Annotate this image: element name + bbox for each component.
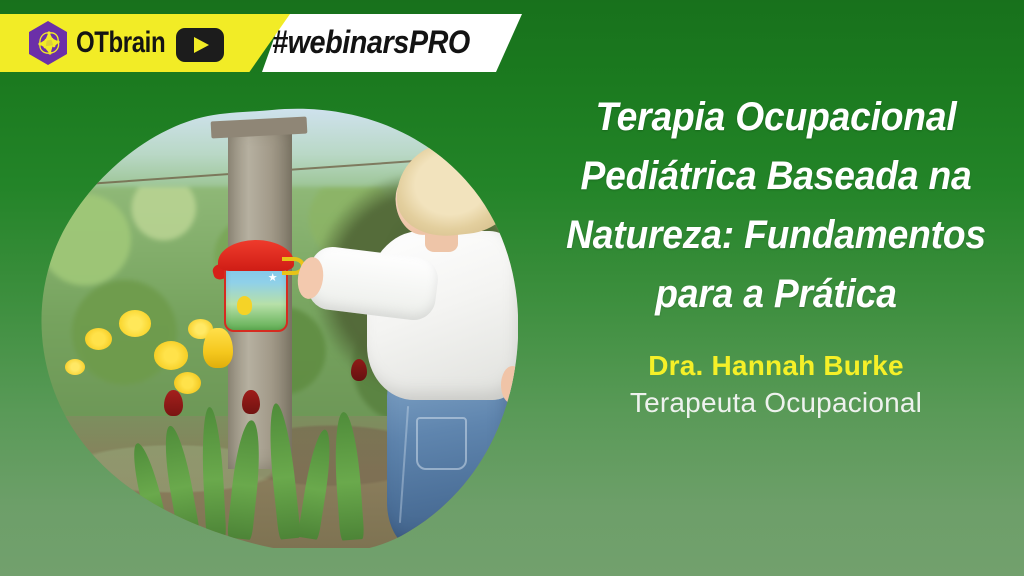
hashtag-label: #webinarsPRO <box>272 22 470 62</box>
otbrain-hexagon-brain-icon <box>26 20 70 66</box>
slide-title: Terapia Ocupacional Pediátrica Baseada n… <box>547 88 1005 324</box>
speaker-name: Dra. Hannah Burke <box>530 348 1022 384</box>
photo-yellow-flower <box>65 359 85 375</box>
photo-red-tulip <box>242 390 260 414</box>
child-hand <box>501 366 518 404</box>
title-line-1: Terapia Ocupacional <box>547 88 1005 147</box>
photo-scene: ★ <box>26 108 518 548</box>
watering-can-duck <box>237 296 253 315</box>
jeans-seam <box>399 406 409 523</box>
photo-yellow-tulip <box>203 328 233 368</box>
photo-yellow-flower <box>119 310 151 336</box>
toddler-watering-flowers-photo: ★ <box>26 108 518 548</box>
speaker-block: Dra. Hannah Burke Terapeuta Ocupacional <box>530 348 1022 422</box>
title-line-2: Pediátrica Baseada na <box>547 147 1005 206</box>
text-column: Terapia Ocupacional Pediátrica Baseada n… <box>530 88 1022 422</box>
watering-can-body: ★ <box>224 260 288 332</box>
photo-child <box>321 126 518 548</box>
title-line-3: Natureza: Fundamentos <box>547 206 1005 265</box>
play-triangle <box>194 37 209 53</box>
youtube-play-icon[interactable] <box>176 28 224 62</box>
webinar-slide: OTbrain #webinarsPRO <box>0 0 1024 576</box>
watering-can-star: ★ <box>268 273 278 284</box>
photo-yellow-flower <box>85 328 112 350</box>
brand-name: OTbrain <box>76 24 165 62</box>
speaker-role: Terapeuta Ocupacional <box>530 384 1022 422</box>
title-line-4: para a Prática <box>547 265 1005 324</box>
jeans-pocket <box>416 417 467 470</box>
photo-yellow-flower <box>154 341 188 370</box>
photo-watering-can: ★ <box>218 240 294 332</box>
